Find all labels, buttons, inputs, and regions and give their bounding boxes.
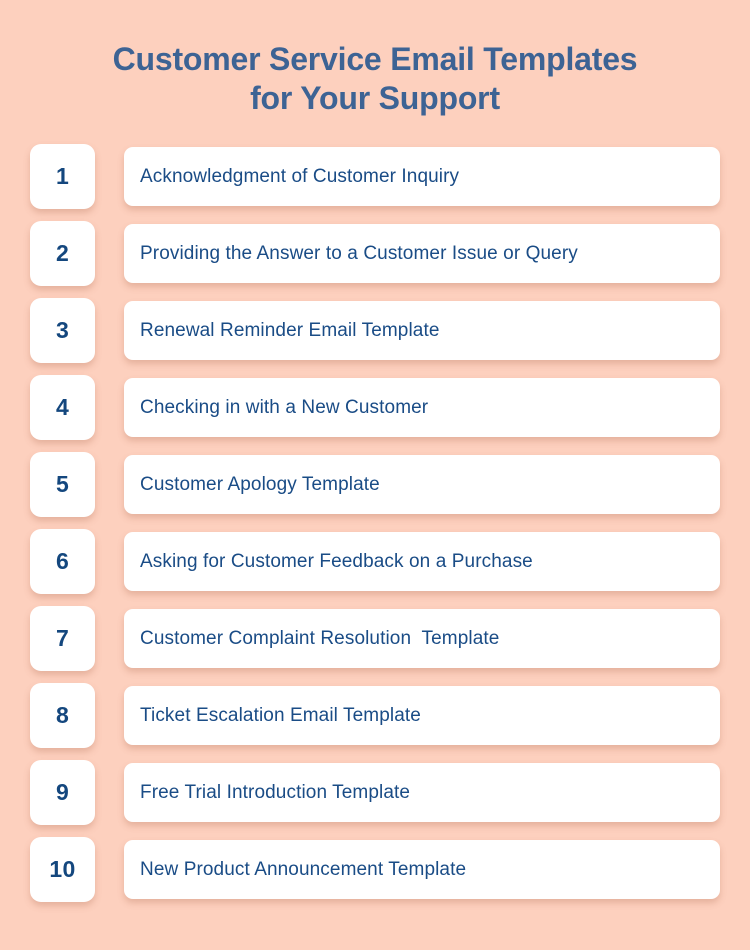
item-number-badge: 2	[30, 221, 95, 286]
list-item[interactable]: 7 Customer Complaint Resolution Template	[30, 605, 720, 672]
item-card[interactable]: Free Trial Introduction Template	[124, 763, 720, 822]
item-label: Acknowledgment of Customer Inquiry	[140, 166, 459, 188]
item-card[interactable]: Customer Apology Template	[124, 455, 720, 514]
item-label: Ticket Escalation Email Template	[140, 705, 421, 727]
page-root: Customer Service Email Templates for You…	[0, 0, 750, 950]
list-item[interactable]: 1 Acknowledgment of Customer Inquiry	[30, 143, 720, 210]
list-item[interactable]: 10 New Product Announcement Template	[30, 836, 720, 903]
item-label: Customer Apology Template	[140, 474, 380, 496]
item-label: Providing the Answer to a Customer Issue…	[140, 243, 578, 265]
item-card[interactable]: Checking in with a New Customer	[124, 378, 720, 437]
item-number-badge: 3	[30, 298, 95, 363]
item-number-badge: 9	[30, 760, 95, 825]
page-header: Customer Service Email Templates for You…	[0, 0, 750, 118]
item-card[interactable]: Ticket Escalation Email Template	[124, 686, 720, 745]
list-item[interactable]: 4 Checking in with a New Customer	[30, 374, 720, 441]
page-title-line-1: Customer Service Email Templates	[60, 40, 690, 79]
item-number: 1	[56, 163, 69, 190]
item-card[interactable]: New Product Announcement Template	[124, 840, 720, 899]
item-label: Renewal Reminder Email Template	[140, 320, 440, 342]
item-card[interactable]: Providing the Answer to a Customer Issue…	[124, 224, 720, 283]
item-number: 5	[56, 471, 69, 498]
item-number: 6	[56, 548, 69, 575]
page-title-line-2: for Your Support	[60, 79, 690, 118]
item-label: Customer Complaint Resolution Template	[140, 628, 499, 650]
item-number: 2	[56, 240, 69, 267]
item-number: 8	[56, 702, 69, 729]
page-title: Customer Service Email Templates for You…	[0, 40, 750, 118]
item-label: New Product Announcement Template	[140, 859, 466, 881]
item-number-badge: 6	[30, 529, 95, 594]
item-number-badge: 1	[30, 144, 95, 209]
item-number: 7	[56, 625, 69, 652]
item-number-badge: 5	[30, 452, 95, 517]
item-number-badge: 8	[30, 683, 95, 748]
item-card[interactable]: Acknowledgment of Customer Inquiry	[124, 147, 720, 206]
item-number-badge: 10	[30, 837, 95, 902]
list-item[interactable]: 8 Ticket Escalation Email Template	[30, 682, 720, 749]
item-number: 4	[56, 394, 69, 421]
item-card[interactable]: Renewal Reminder Email Template	[124, 301, 720, 360]
list-item[interactable]: 6 Asking for Customer Feedback on a Purc…	[30, 528, 720, 595]
list-item[interactable]: 2 Providing the Answer to a Customer Iss…	[30, 220, 720, 287]
list-item[interactable]: 3 Renewal Reminder Email Template	[30, 297, 720, 364]
item-card[interactable]: Asking for Customer Feedback on a Purcha…	[124, 532, 720, 591]
item-label: Asking for Customer Feedback on a Purcha…	[140, 551, 533, 573]
item-number-badge: 4	[30, 375, 95, 440]
item-label: Checking in with a New Customer	[140, 397, 428, 419]
item-number: 9	[56, 779, 69, 806]
item-number-badge: 7	[30, 606, 95, 671]
list-item[interactable]: 9 Free Trial Introduction Template	[30, 759, 720, 826]
item-card[interactable]: Customer Complaint Resolution Template	[124, 609, 720, 668]
item-number: 10	[49, 856, 75, 883]
list-item[interactable]: 5 Customer Apology Template	[30, 451, 720, 518]
template-list: 1 Acknowledgment of Customer Inquiry 2 P…	[0, 143, 750, 903]
item-number: 3	[56, 317, 69, 344]
item-label: Free Trial Introduction Template	[140, 782, 410, 804]
